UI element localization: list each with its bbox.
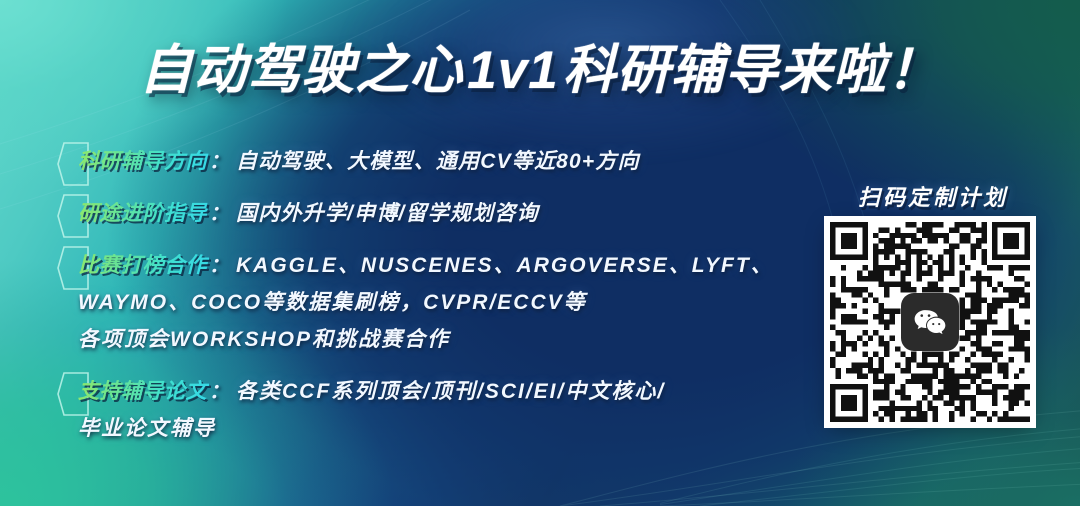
headline-part-brand: 自动驾驶之心 xyxy=(139,41,463,100)
list-item-colon: ： xyxy=(209,381,236,403)
list-item: 比赛打榜合作：KAGGLE、NUSCENES、ARGOVERSE、LYFT、 W… xyxy=(56,249,756,353)
list-item: 研途进阶指导：国内外升学/申博/留学规划咨询 xyxy=(56,197,756,227)
list-item-value: 自动驾驶、大模型、通用CV等近80+方向 xyxy=(236,150,640,173)
list-item-value: KAGGLE、NUSCENES、ARGOVERSE、LYFT、 xyxy=(236,254,774,277)
list-item-tag: 研途进阶指导 xyxy=(78,202,209,225)
list-item-colon: ： xyxy=(209,203,236,225)
page-title: 自动驾驶之心1v1科研辅导来啦！ xyxy=(0,44,1080,97)
list-item: 科研辅导方向：自动驾驶、大模型、通用CV等近80+方向 xyxy=(56,145,756,175)
list-item-value-line3: 各项顶会WORKSHOP和挑战赛合作 xyxy=(78,323,756,353)
list-item-value-line2: 毕业论文辅导 xyxy=(78,412,756,442)
list-item-tag: 支持辅导论文 xyxy=(78,380,209,403)
headline-part-tail: 科研辅导来啦！ xyxy=(563,41,941,100)
list-item-colon: ： xyxy=(209,151,236,173)
list-item-value-line2: WAYMO、COCO等数据集刷榜，CVPR/ECCV等 xyxy=(78,286,756,316)
list-item: 支持辅导论文：各类CCF系列顶会/顶刊/SCI/EI/中文核心/ 毕业论文辅导 xyxy=(56,375,756,442)
wechat-logo-icon xyxy=(901,293,959,351)
list-item-colon: ： xyxy=(209,255,236,277)
list-item-tag: 比赛打榜合作 xyxy=(78,254,209,277)
qr-section-title: 扫码定制计划 xyxy=(818,180,1048,212)
list-item-tag: 科研辅导方向 xyxy=(78,150,209,173)
list-item-value: 各类CCF系列顶会/顶刊/SCI/EI/中文核心/ xyxy=(236,380,665,403)
qr-code[interactable] xyxy=(830,222,1030,422)
feature-list: 科研辅导方向：自动驾驶、大模型、通用CV等近80+方向 研途进阶指导：国内外升学… xyxy=(56,145,756,464)
list-item-value: 国内外升学/申博/留学规划咨询 xyxy=(236,202,539,225)
promo-poster: 自动驾驶之心1v1科研辅导来啦！ 科研辅导方向：自动驾驶、大模型、通用CV等近8… xyxy=(0,0,1080,506)
headline-part-1v1: 1v1 xyxy=(463,41,562,100)
